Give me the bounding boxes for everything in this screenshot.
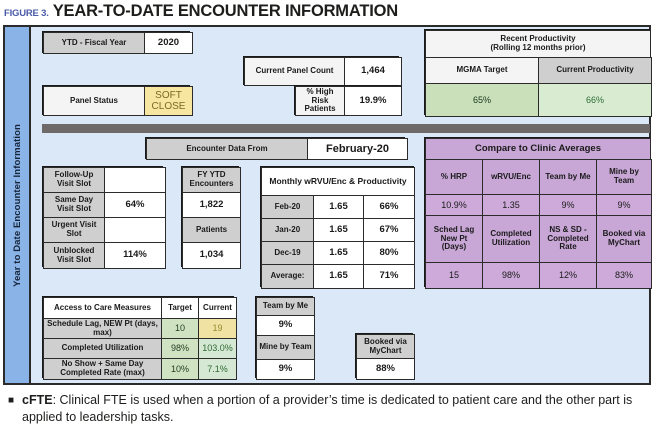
clinic-avg-header-wrvu: wRVU/Enc (482, 159, 540, 195)
access-to-care-current-2: 7.1% (198, 358, 237, 380)
clinic-avg-value-wrvu: 1.35 (482, 194, 540, 216)
fy-ytd-group: FY YTD Encounters 1,822 Patients 1,034 (181, 166, 239, 267)
page-title: FIGURE 3. YEAR-TO-DATE ENCOUNTER INFORMA… (4, 2, 650, 24)
figure-title-text: YEAR-TO-DATE ENCOUNTER INFORMATION (53, 2, 398, 20)
access-to-care-measure-1: Completed Utilization (43, 338, 162, 359)
clinic-avg-header-ns-sd: NS & SD - Completed Rate (539, 215, 597, 263)
ytd-encounter-panel: Year to Date Encounter Information YTD -… (3, 25, 651, 385)
access-to-care-group: Access to Care Measures Target Current S… (42, 296, 234, 378)
access-to-care-measure-2: No Show + Same Day Completed Rate (max) (43, 358, 162, 380)
current-productivity-value: 66% (538, 83, 652, 117)
fy-ytd-patients-value: 1,034 (182, 242, 241, 269)
high-risk-label: % High Risk Patients (295, 86, 345, 116)
monthly-wrvu-month-3: Average: (261, 264, 314, 289)
visit-slot-value-1: 64% (104, 192, 166, 218)
recent-productivity-group: Recent Productivity (Rolling 12 months p… (424, 29, 650, 115)
panel-status-value: SOFT CLOSE (144, 86, 193, 116)
monthly-productivity-value-3: 71% (363, 264, 415, 289)
access-to-care-target-0: 10 (161, 318, 199, 339)
current-panel-count-value: 1,464 (344, 57, 402, 86)
mgma-target-header: MGMA Target (425, 57, 539, 84)
visit-slot-label-2: Urgent Visit Slot (43, 217, 105, 243)
monthly-wrvu-value-2: 1.65 (313, 241, 364, 265)
fiscal-year-label: YTD - Fiscal Year (43, 32, 145, 54)
monthly-wrvu-month-1: Jan-20 (261, 218, 314, 242)
clinic-avg-value-team-by-me: 9% (539, 194, 597, 216)
clinic-avg-value-ns-sd: 12% (539, 262, 597, 289)
panel-status-group: Panel Status SOFT CLOSE (42, 85, 190, 115)
fiscal-year-group: YTD - Fiscal Year 2020 (42, 31, 190, 53)
clinic-avg-header-booked-mychart: Booked via MyChart (596, 215, 652, 263)
clinic-avg-value-sched-lag: 15 (425, 262, 483, 289)
visit-slot-value-0 (104, 167, 166, 193)
current-panel-count-group: Current Panel Count 1,464 (243, 56, 399, 85)
access-to-care-header-current: Current (198, 297, 237, 319)
clinic-avg-value-completed-utilization: 98% (482, 262, 540, 289)
monthly-wrvu-value-0: 1.65 (313, 195, 364, 219)
footnote-term: cFTE (22, 393, 53, 407)
access-to-care-target-2: 10% (161, 358, 199, 380)
clinic-averages-title: Compare to Clinic Averages (425, 138, 651, 160)
fy-ytd-encounters-value: 1,822 (182, 192, 241, 218)
visit-slot-value-2 (104, 217, 166, 243)
fy-ytd-encounters-label: FY YTD Encounters (182, 167, 241, 193)
encounter-data-label: Encounter Data From (146, 138, 308, 160)
encounter-data-value: February-20 (307, 138, 408, 160)
recent-productivity-title-line2: (Rolling 12 months prior) (490, 44, 585, 53)
mine-by-team-value: 9% (256, 359, 315, 380)
clinic-avg-header-mine-by-team: Mine by Team (596, 159, 652, 195)
clinic-avg-header-team-by-me: Team by Me (539, 159, 597, 195)
fy-ytd-patients-label: Patients (182, 217, 241, 243)
monthly-wrvu-value-1: 1.65 (313, 218, 364, 242)
visit-slot-label-3: Unblocked Visit Slot (43, 242, 105, 269)
monthly-wrvu-group: Monthly wRVU/Enc & Productivity Feb-20 1… (260, 166, 414, 287)
booked-mychart-label: Booked via MyChart (356, 334, 415, 359)
monthly-wrvu-title: Monthly wRVU/Enc & Productivity (261, 167, 415, 196)
clinic-avg-header-hrp: % HRP (425, 159, 483, 195)
clinic-avg-value-mine-by-team: 9% (596, 194, 652, 216)
access-to-care-target-1: 98% (161, 338, 199, 359)
fiscal-year-value: 2020 (144, 32, 193, 54)
monthly-productivity-value-0: 66% (363, 195, 415, 219)
monthly-wrvu-value-3: 1.65 (313, 264, 364, 289)
access-to-care-current-0: 19 (198, 318, 237, 339)
visit-slots-group: Follow-Up Visit Slot Same Day Visit Slot… (42, 166, 163, 267)
section-divider (42, 124, 650, 133)
clinic-avg-header-sched-lag: Sched Lag New Pt (Days) (425, 215, 483, 263)
footnote-body: : Clinical FTE is used when a portion of… (22, 393, 632, 424)
access-to-care-header-measure: Access to Care Measures (43, 297, 162, 319)
mine-by-team-label: Mine by Team (256, 335, 315, 360)
mgma-target-value: 65% (425, 83, 539, 117)
access-to-care-current-1: 103.0% (198, 338, 237, 359)
figure-page: FIGURE 3. YEAR-TO-DATE ENCOUNTER INFORMA… (0, 0, 654, 440)
clinic-avg-value-hrp: 10.9% (425, 194, 483, 216)
monthly-wrvu-month-2: Dec-19 (261, 241, 314, 265)
clinic-averages-group: Compare to Clinic Averages % HRP wRVU/En… (424, 137, 650, 287)
monthly-productivity-value-1: 67% (363, 218, 415, 242)
clinic-avg-header-completed-utilization: Completed Utilization (482, 215, 540, 263)
monthly-wrvu-month-0: Feb-20 (261, 195, 314, 219)
team-by-me-value: 9% (256, 315, 315, 336)
visit-slot-label-0: Follow-Up Visit Slot (43, 167, 105, 193)
monthly-productivity-value-2: 80% (363, 241, 415, 265)
access-to-care-measure-0: Schedule Lag, NEW Pt (days, max) (43, 318, 162, 339)
vertical-section-label-text: Year to Date Encounter Information (12, 124, 23, 287)
visit-slot-value-3: 114% (104, 242, 166, 269)
high-risk-value: 19.9% (344, 86, 402, 116)
team-by-me-label: Team by Me (256, 297, 315, 316)
encounter-data-group: Encounter Data From February-20 (145, 137, 405, 159)
booked-mychart-group: Booked via MyChart 88% (355, 333, 413, 378)
booked-mychart-value: 88% (356, 358, 415, 380)
recent-productivity-title: Recent Productivity (Rolling 12 months p… (425, 30, 651, 58)
vertical-section-label: Year to Date Encounter Information (5, 27, 31, 383)
current-productivity-header: Current Productivity (538, 57, 652, 84)
access-to-care-header-target: Target (161, 297, 199, 319)
panel-status-label: Panel Status (43, 86, 145, 116)
high-risk-group: % High Risk Patients 19.9% (294, 85, 399, 115)
footnote-text: cFTE: Clinical FTE is used when a portio… (22, 392, 646, 426)
footnote: ■ cFTE: Clinical FTE is used when a port… (6, 392, 646, 426)
footnote-bullet-icon: ■ (8, 394, 14, 408)
clinic-avg-value-booked-mychart: 83% (596, 262, 652, 289)
current-panel-count-label: Current Panel Count (244, 57, 345, 86)
figure-number: FIGURE 3. (4, 8, 49, 19)
visit-slot-label-1: Same Day Visit Slot (43, 192, 105, 218)
team-metrics-group: Team by Me 9% Mine by Team 9% (255, 296, 313, 378)
